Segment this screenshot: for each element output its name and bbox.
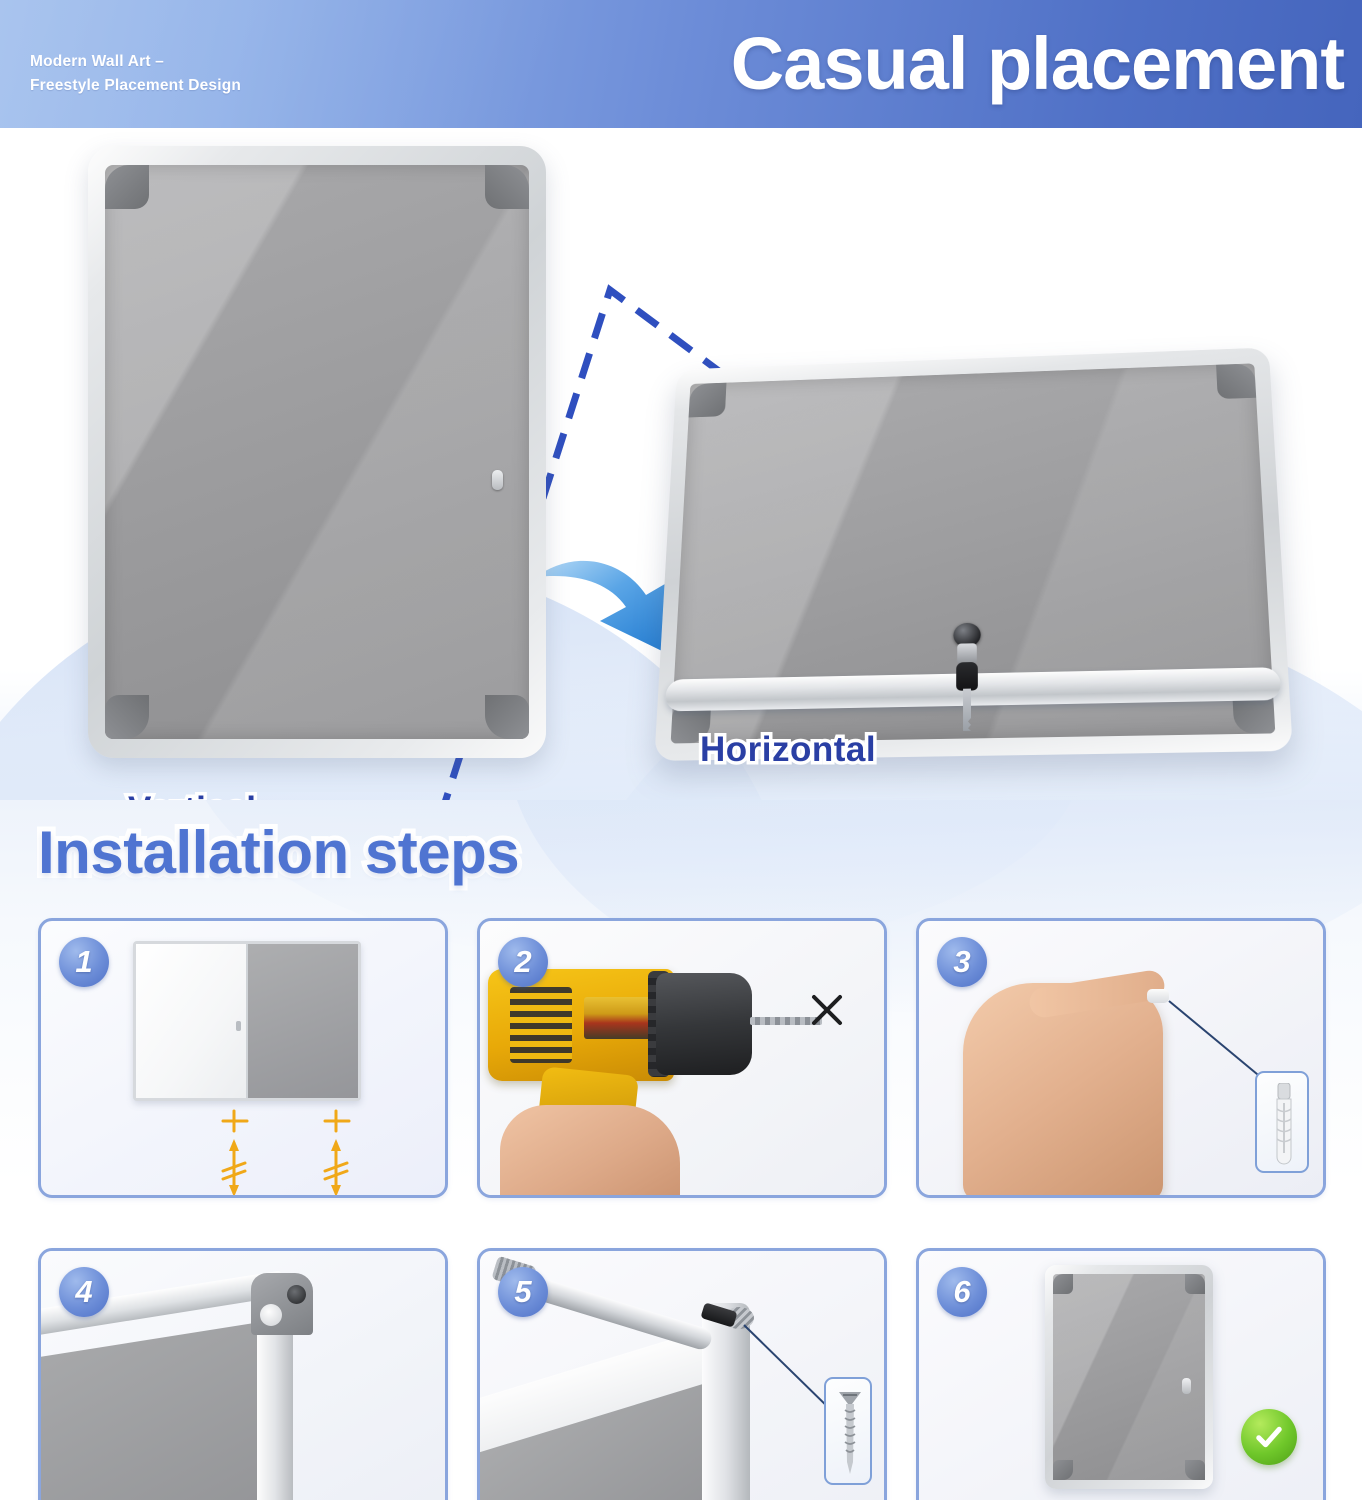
infographic-page: Modern Wall Art – Freestyle Placement De… (0, 0, 1362, 1500)
check-mark-icon (1241, 1409, 1297, 1465)
step-badge-6: 6 (937, 1267, 987, 1317)
screw-icon (837, 1388, 863, 1478)
product-board-horizontal (654, 347, 1293, 760)
callout-screw (824, 1377, 872, 1485)
measure-marker-right (319, 1109, 353, 1197)
corner-cap-top-left (105, 165, 149, 209)
installation-section: Installation steps (0, 800, 1362, 1500)
hand (500, 1105, 680, 1198)
corner-cap-bottom-left (1053, 1460, 1073, 1480)
wall-anchor-in-hand (1147, 989, 1169, 1003)
board-door (136, 944, 248, 1098)
step-panel-2: 2 (477, 918, 887, 1198)
corner-cap-bottom-right (1185, 1460, 1205, 1480)
callout-wall-anchor (1255, 1071, 1309, 1173)
callout-leader-line (1167, 999, 1267, 1083)
corner-cap-top-right (1216, 363, 1256, 399)
pivot-hole-icon (260, 1304, 282, 1326)
hero-section: Vertical Horizontal (0, 128, 1362, 800)
step-badge-4: 4 (59, 1267, 109, 1317)
lock-icon (1182, 1378, 1191, 1394)
wall-mark-x-icon (810, 993, 844, 1027)
installation-steps-grid: 1 (38, 918, 1326, 1500)
key-icon (956, 662, 978, 691)
felt-surface (1053, 1274, 1205, 1480)
corner-bracket (251, 1273, 313, 1335)
installation-title: Installation steps (38, 818, 519, 887)
header-banner: Modern Wall Art – Freestyle Placement De… (0, 0, 1362, 128)
corner-cap-top-right (1185, 1274, 1205, 1294)
frame-rail-right (257, 1329, 293, 1500)
board-felt-panel (248, 944, 358, 1098)
page-title: Casual placement (731, 8, 1344, 120)
key-blade (963, 689, 971, 731)
step-badge-3: 3 (937, 937, 987, 987)
corner-cap-bottom-left (105, 695, 149, 739)
board-with-open-door (133, 941, 361, 1101)
corner-cap-top-left (689, 383, 727, 418)
header-subtitle-line2: Freestyle Placement Design (30, 74, 360, 98)
header-subtitle-line1: Modern Wall Art – (30, 50, 360, 74)
corner-cap-bottom-right (485, 695, 529, 739)
lock-ring (957, 643, 977, 664)
corner-cap-top-left (1053, 1274, 1073, 1294)
lock-icon (492, 470, 503, 490)
drill-vents (510, 987, 572, 1063)
felt-surface-vertical (105, 165, 529, 739)
step-badge-5: 5 (498, 1267, 548, 1317)
step-panel-6: 6 (916, 1248, 1326, 1500)
check-glyph (1252, 1420, 1286, 1454)
step-panel-4: 4 (38, 1248, 448, 1500)
product-board-vertical (88, 146, 546, 758)
header-subtitle: Modern Wall Art – Freestyle Placement De… (30, 50, 360, 98)
label-vertical: Vertical (128, 790, 257, 800)
step-badge-2: 2 (498, 937, 548, 987)
wall-anchor-icon (1273, 1083, 1295, 1165)
mounted-board (1045, 1265, 1213, 1489)
step-panel-5: 5 (477, 1248, 887, 1500)
mounting-hole-icon (287, 1285, 306, 1304)
step-panel-3: 3 (916, 918, 1326, 1198)
drill-chuck (656, 973, 752, 1075)
measure-marker-left (217, 1109, 251, 1197)
lock-and-keys (944, 622, 990, 737)
label-horizontal: Horizontal (700, 730, 876, 770)
corner-cap-top-right (485, 165, 529, 209)
step-badge-1: 1 (59, 937, 109, 987)
hand (963, 983, 1163, 1198)
step-panel-1: 1 (38, 918, 448, 1198)
